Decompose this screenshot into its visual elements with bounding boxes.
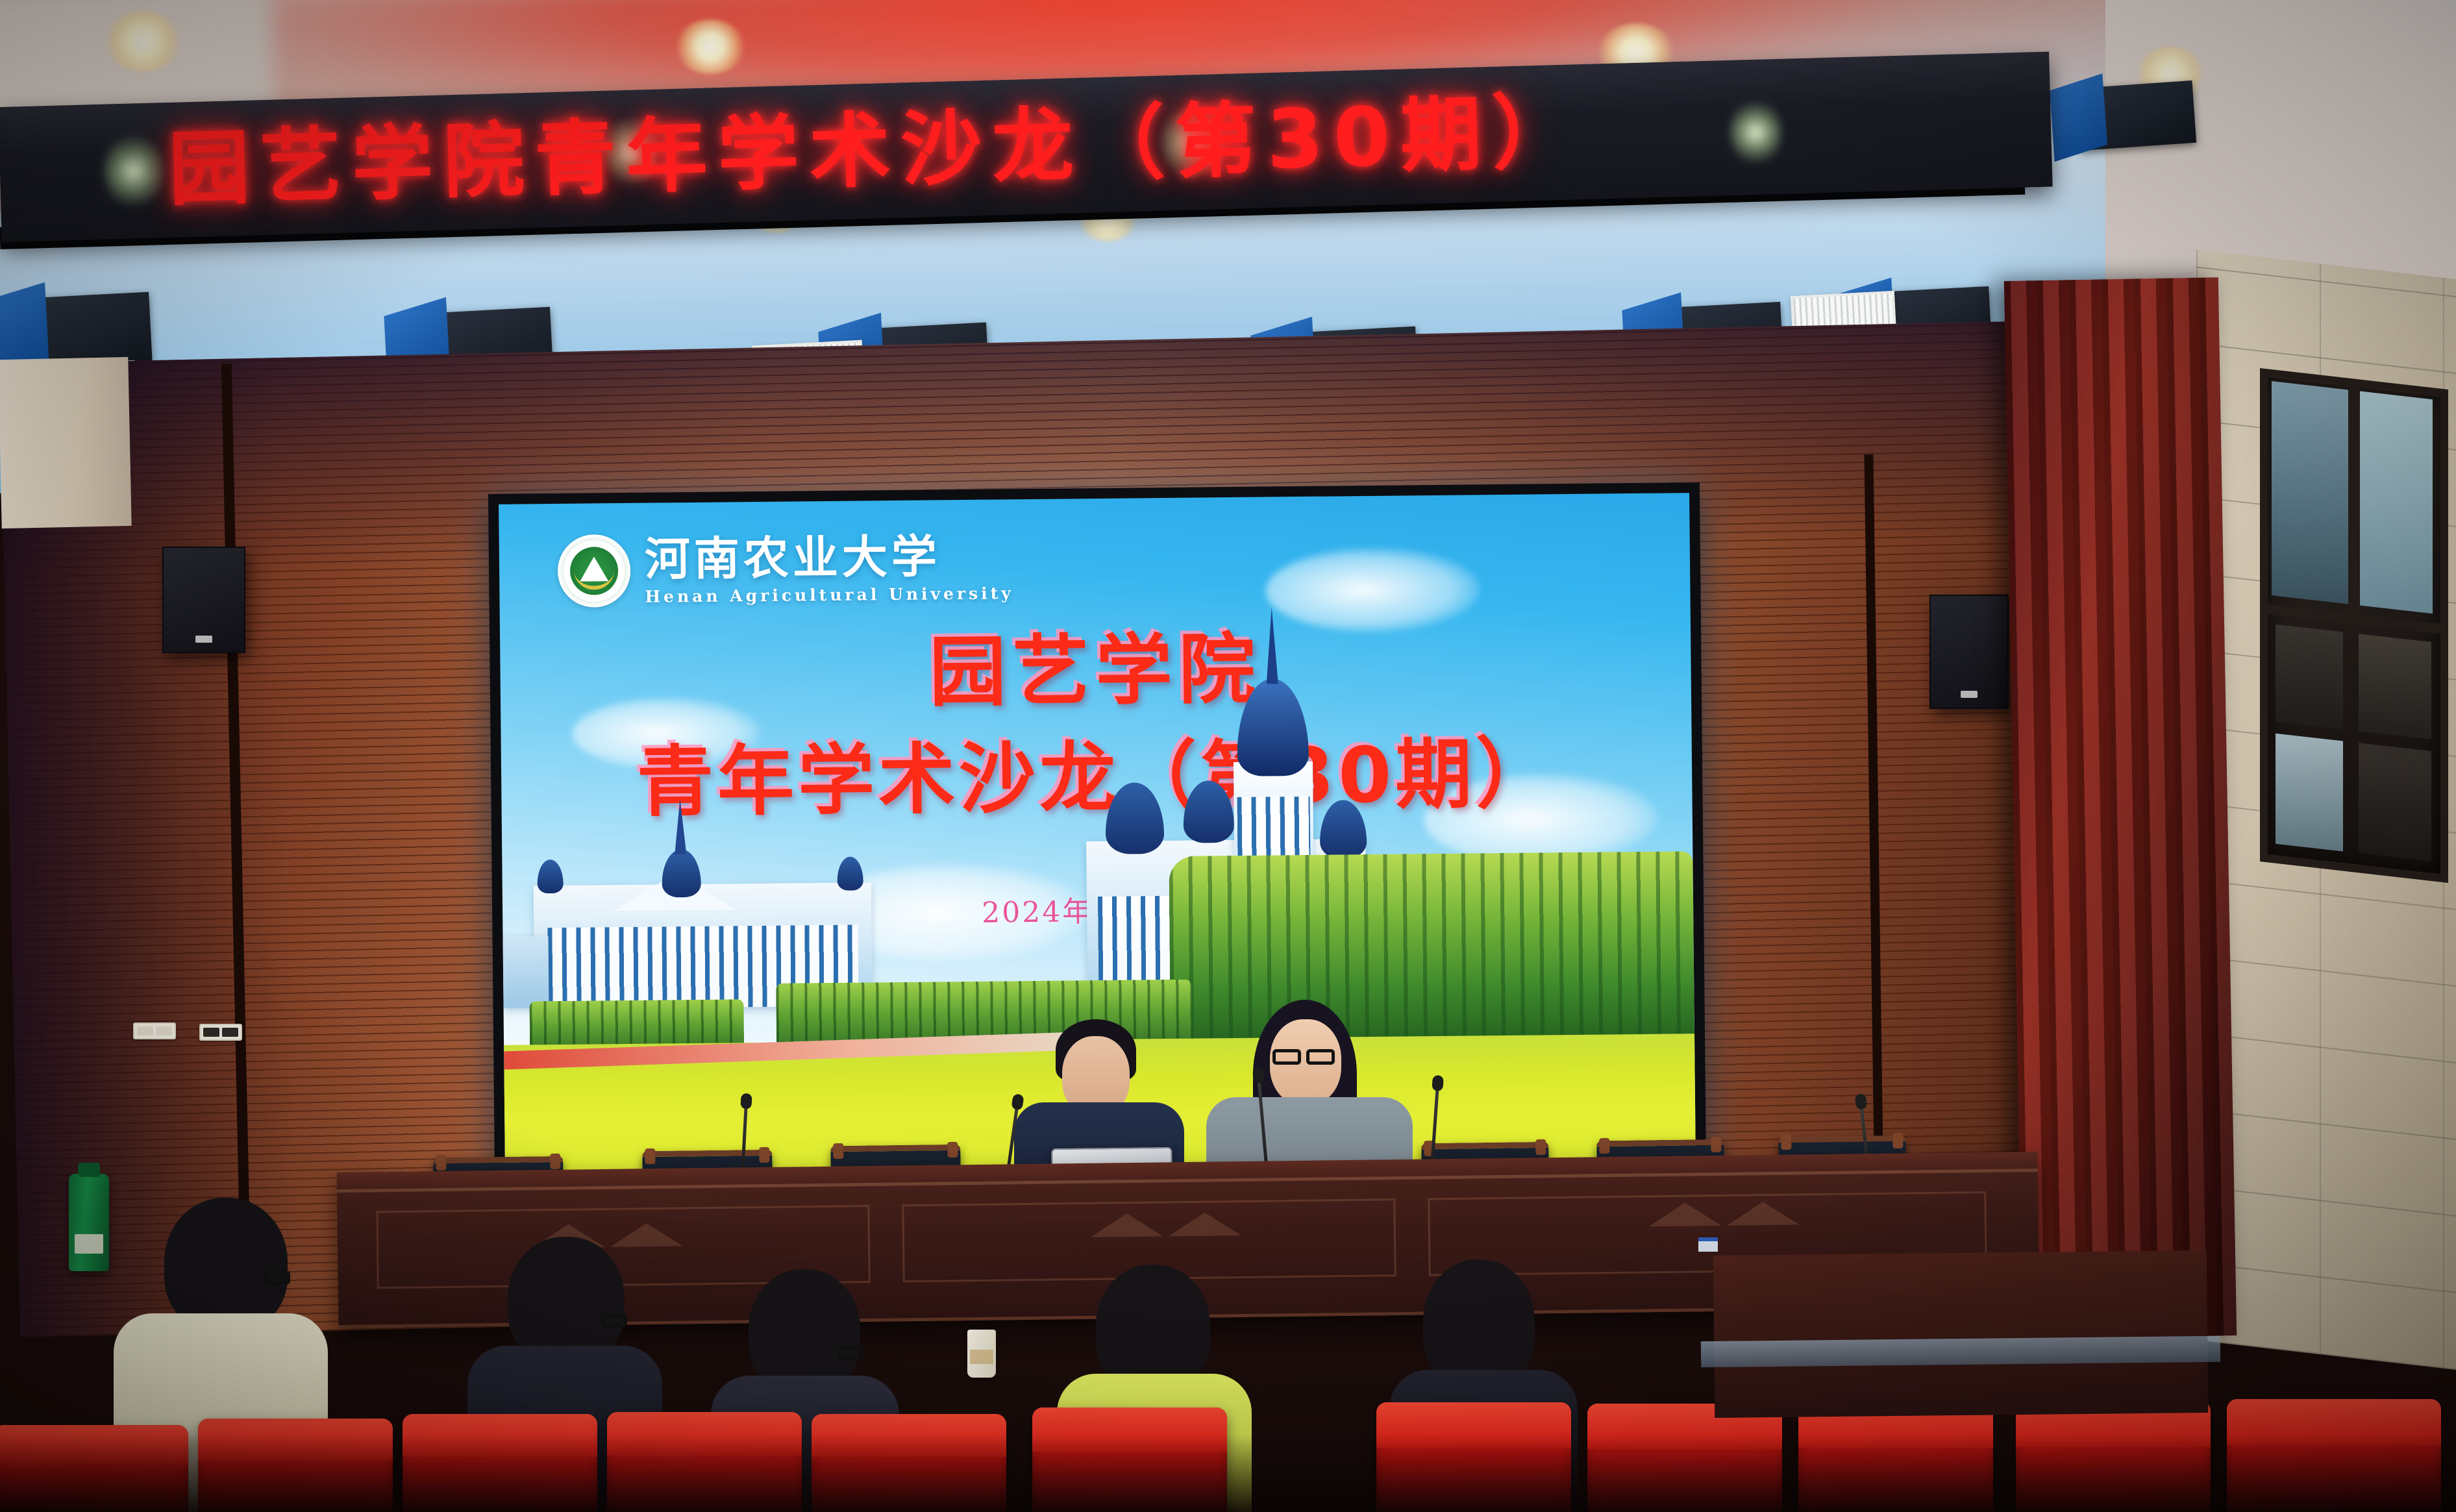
- fire-extinguisher: [69, 1174, 109, 1271]
- table-chevron-motif: [1168, 1212, 1241, 1236]
- audience-glasses-icon: [264, 1270, 290, 1285]
- table-chevron-motif: [1090, 1213, 1163, 1237]
- downlight-icon: [104, 12, 182, 71]
- building-dome: [662, 849, 701, 898]
- stage-curtain: [2004, 277, 2237, 1339]
- audience-glasses-icon: [601, 1313, 627, 1328]
- window: [2260, 368, 2448, 883]
- table-chevron-motif: [1726, 1201, 1799, 1225]
- window-pane: [2359, 743, 2431, 861]
- paper-cup[interactable]: [967, 1330, 996, 1378]
- audience-head: [508, 1237, 625, 1363]
- banner-glare: [103, 131, 164, 210]
- university-name-en: Henan Agricultural University: [645, 585, 1013, 604]
- power-outlet-plate[interactable]: [199, 1024, 242, 1041]
- university-logo: 河南农业大学 Henan Agricultural University: [558, 530, 1014, 608]
- presenter-glasses-icon: [1272, 1049, 1301, 1065]
- window-pane: [2359, 634, 2431, 739]
- window-pane: [2276, 625, 2343, 730]
- audience-glasses-icon: [838, 1346, 864, 1360]
- back-counter-ledge: [1701, 1336, 2220, 1367]
- window-pane: [2360, 391, 2433, 614]
- wall-cream-pillar: [0, 357, 132, 528]
- audience-head: [749, 1269, 860, 1393]
- audience-head: [164, 1198, 288, 1331]
- window-pane: [2276, 734, 2343, 852]
- speaker-badge-icon: [1961, 691, 1978, 698]
- seal-wheat-icon: [574, 570, 614, 590]
- presenter-glasses-icon: [1306, 1049, 1335, 1065]
- university-name-block: 河南农业大学 Henan Agricultural University: [645, 533, 1014, 604]
- building-turret: [837, 856, 863, 890]
- slide-title-line1: 园艺学院: [500, 620, 1691, 722]
- building-spire: [674, 799, 686, 854]
- university-name-cn: 河南农业大学: [645, 533, 1014, 582]
- wall-speaker-left: [162, 547, 245, 653]
- floor-shadow: [0, 1434, 2456, 1512]
- university-seal-icon: [558, 534, 631, 608]
- campus-building-far: [503, 936, 549, 1008]
- led-banner-text: 园艺学院青年学术沙龙（第30期）: [167, 92, 1585, 211]
- cloud-decoration: [1265, 547, 1480, 633]
- banner-glare: [1729, 98, 1783, 167]
- lecture-hall-photo: 园艺学院青年学术沙龙（第30期）: [0, 0, 2456, 1512]
- speaker-badge-icon: [195, 636, 212, 643]
- slide-title: 园艺学院 青年学术沙龙（第30期）: [500, 620, 1693, 829]
- wall-speaker-right: [1929, 595, 2009, 709]
- back-counter: [1713, 1250, 2209, 1418]
- downlight-icon: [675, 19, 745, 74]
- table-indicator-light: [1698, 1237, 1718, 1252]
- seal-inner: [570, 547, 619, 595]
- tower-spire: [1266, 607, 1278, 684]
- table-chevron-motif: [1648, 1202, 1721, 1226]
- building-turret: [537, 860, 563, 893]
- audience-head: [1096, 1265, 1210, 1392]
- ceiling-spot-fixture: [2076, 81, 2196, 151]
- light-switch-plate[interactable]: [133, 1022, 176, 1039]
- window-pane: [2272, 381, 2348, 604]
- window-mullion: [2350, 386, 2359, 619]
